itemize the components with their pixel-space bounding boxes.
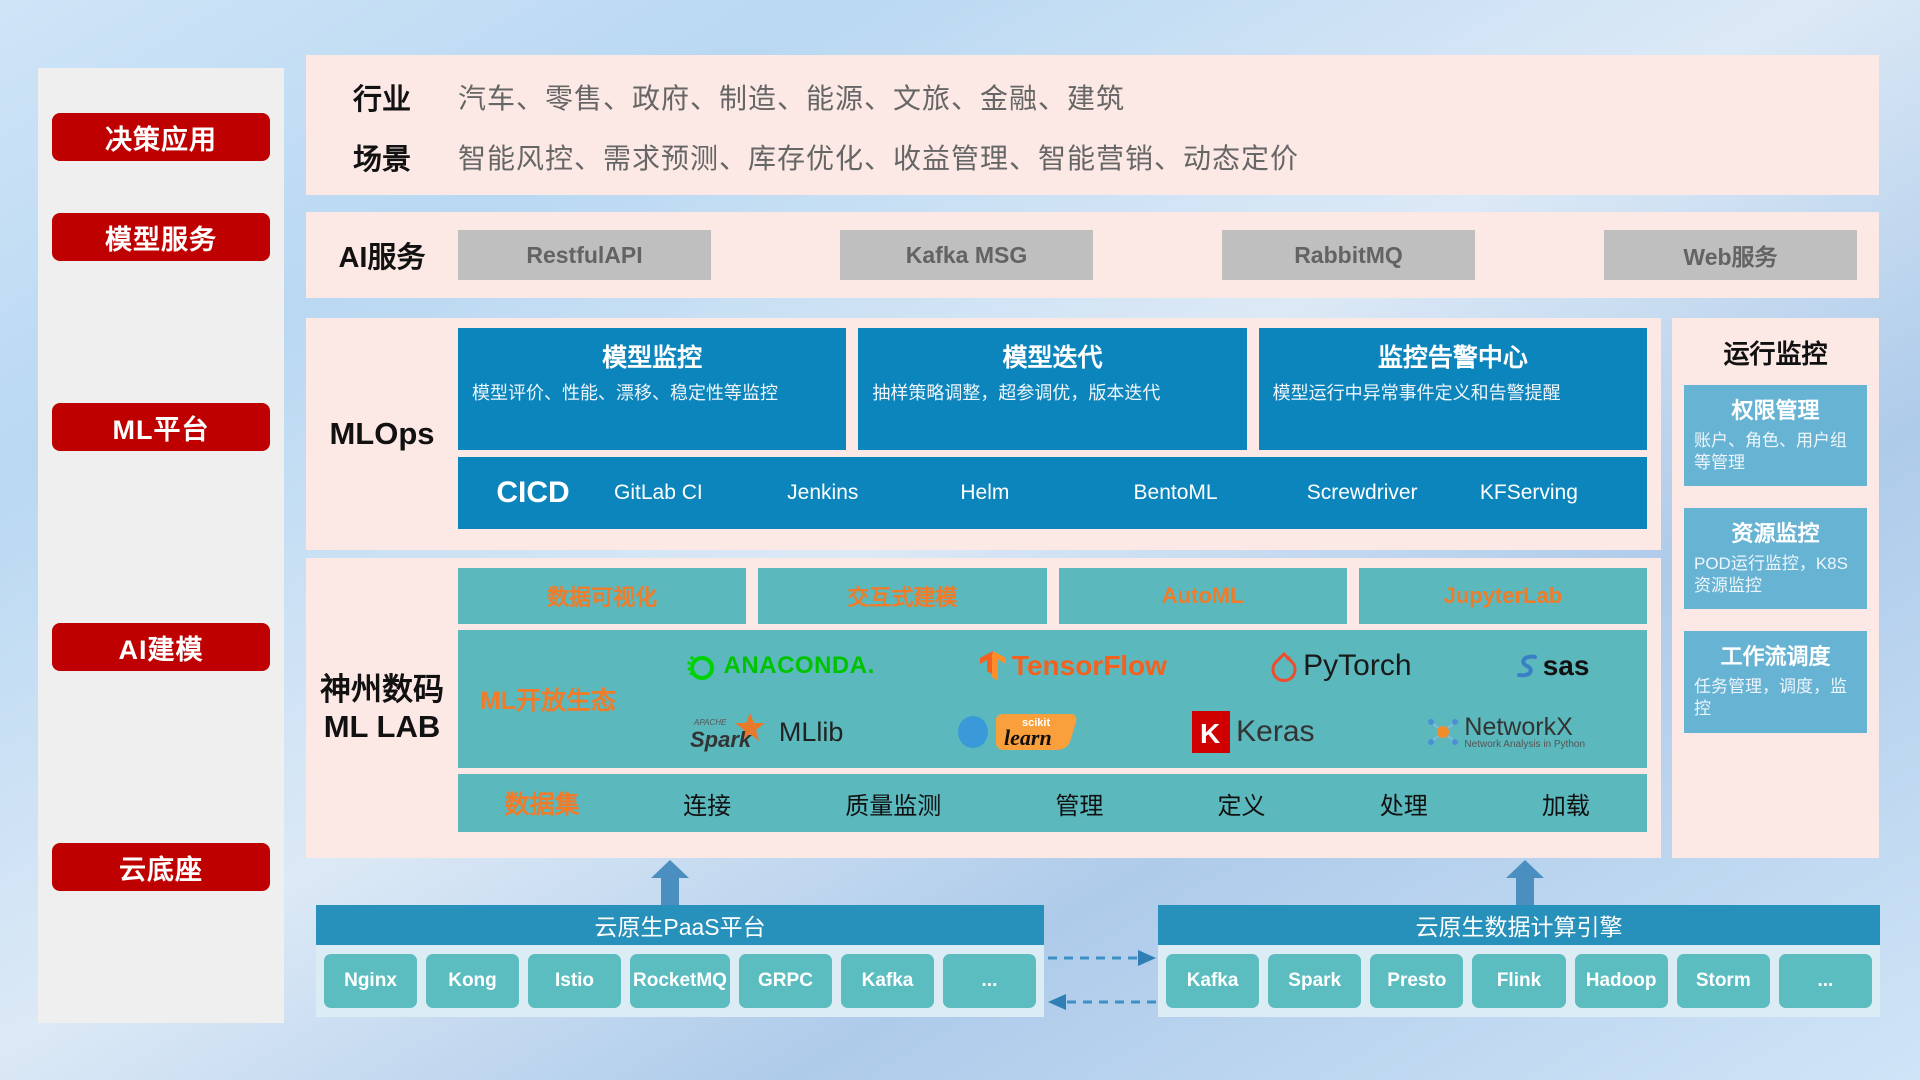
card-title: 监控告警中心	[1273, 338, 1633, 374]
runtime-monitoring-panel: 运行监控 权限管理 账户、角色、用户组等管理 资源监控 POD运行监控，K8S资…	[1672, 318, 1879, 858]
service-chip-restfulapi[interactable]: RestfulAPI	[458, 230, 711, 280]
ml-ecosystem-label: ML开放生态	[464, 681, 632, 717]
cloud-chip-rocketmq[interactable]: RocketMQ	[630, 954, 730, 1008]
monitoring-title: 运行监控	[1684, 334, 1867, 371]
logo-line-1: ANACONDA. TensorFlow	[632, 635, 1641, 697]
industry-values: 汽车、零售、政府、制造、能源、文旅、金融、建筑	[458, 77, 1125, 117]
engine-chip-more[interactable]: ...	[1779, 954, 1872, 1008]
mlops-label: MLOps	[306, 318, 458, 550]
dataset-item-process[interactable]: 处理	[1380, 786, 1428, 821]
scenario-row: 场景 智能风控、需求预测、库存优化、收益管理、智能营销、动态定价	[306, 127, 1879, 187]
keras-icon: K	[1192, 711, 1230, 753]
cloud-paas-title: 云原生PaaS平台	[316, 905, 1044, 945]
ml-ecosystem-row: ML开放生态 ANACONDA.	[458, 630, 1647, 768]
mon-card-desc: POD运行监控，K8S资源监控	[1694, 553, 1857, 597]
mon-card-desc: 账户、角色、用户组等管理	[1694, 430, 1857, 474]
cicd-item-bentoml[interactable]: BentoML	[1128, 480, 1301, 506]
card-title: 模型监控	[472, 338, 832, 374]
mon-card-workflow[interactable]: 工作流调度 任务管理，调度，监控	[1684, 631, 1867, 732]
dataset-item-manage[interactable]: 管理	[1055, 786, 1103, 821]
cloud-paas-group: 云原生PaaS平台 Nginx Kong Istio RocketMQ GRPC…	[316, 905, 1044, 1017]
ml-ecosystem-logos: ANACONDA. TensorFlow	[632, 635, 1641, 763]
keras-logo: K Keras	[1192, 711, 1314, 753]
rail-label: 决策应用	[105, 118, 217, 157]
scikit-learn-icon: scikit learn	[992, 712, 1080, 752]
card-title: 模型迭代	[872, 338, 1232, 374]
ml-lab-label: 神州数码 ML LAB	[306, 558, 458, 858]
cloud-paas-chip-tray: Nginx Kong Istio RocketMQ GRPC Kafka ...	[316, 945, 1044, 1017]
cloud-chip-kong[interactable]: Kong	[426, 954, 519, 1008]
scenario-label: 场景	[306, 136, 458, 178]
spark-mllib-logo: APACHE Spark MLlib	[688, 711, 844, 753]
card-desc: 模型运行中异常事件定义和告警提醒	[1273, 381, 1633, 405]
networkx-wordmark: NetworkX	[1464, 715, 1585, 740]
cloud-chip-grpc[interactable]: GRPC	[739, 954, 832, 1008]
dataset-row: 数据集 连接 质量监测 管理 定义 处理 加载	[458, 774, 1647, 832]
dataset-label: 数据集	[458, 785, 626, 821]
anaconda-wordmark: ANACONDA.	[724, 652, 875, 680]
rail-label: ML平台	[113, 408, 210, 447]
svg-text:APACHE: APACHE	[693, 718, 727, 727]
tensorflow-wordmark: TensorFlow	[1012, 650, 1167, 682]
mlops-card-model-iteration[interactable]: 模型迭代 抽样策略调整，超参调优，版本迭代	[858, 328, 1246, 450]
modeling-tool-group: 数据可视化 交互式建模 AutoML JupyterLab	[458, 568, 1647, 624]
dataset-item-connect[interactable]: 连接	[683, 786, 731, 821]
mon-card-title: 权限管理	[1694, 393, 1857, 425]
up-arrow-icon-right	[1506, 860, 1544, 906]
mlops-card-alert-center[interactable]: 监控告警中心 模型运行中异常事件定义和告警提醒	[1259, 328, 1647, 450]
engine-chip-kafka[interactable]: Kafka	[1166, 954, 1259, 1008]
svg-text:Spark: Spark	[690, 727, 753, 752]
engine-chip-presto[interactable]: Presto	[1370, 954, 1463, 1008]
tool-chip-data-visualization[interactable]: 数据可视化	[458, 568, 746, 624]
rail-label: 模型服务	[105, 218, 217, 257]
sas-icon	[1515, 651, 1541, 681]
cicd-item-gitlab-ci[interactable]: GitLab CI	[608, 480, 781, 506]
pytorch-logo: PyTorch	[1270, 649, 1411, 683]
cicd-item-jenkins[interactable]: Jenkins	[781, 480, 954, 506]
networkx-subtitle: Network Analysis in Python	[1464, 740, 1585, 750]
ai-service-panel: AI服务 RestfulAPI Kafka MSG RabbitMQ Web服务	[306, 212, 1879, 298]
cloud-data-engine-title: 云原生数据计算引擎	[1158, 905, 1880, 945]
bidirectional-dashed-arrows	[1046, 940, 1158, 1020]
mon-card-permission[interactable]: 权限管理 账户、角色、用户组等管理	[1684, 385, 1867, 486]
tensorflow-logo: TensorFlow	[978, 649, 1167, 683]
engine-chip-flink[interactable]: Flink	[1472, 954, 1565, 1008]
networkx-icon	[1426, 715, 1460, 749]
dataset-item-group: 连接 质量监测 管理 定义 处理 加载	[626, 786, 1647, 821]
sas-wordmark: sas	[1543, 650, 1590, 682]
mon-card-title: 资源监控	[1694, 516, 1857, 548]
rail-label: AI建模	[119, 628, 204, 667]
svg-text:learn: learn	[1004, 725, 1052, 750]
cicd-item-screwdriver[interactable]: Screwdriver	[1301, 480, 1474, 506]
service-chip-web[interactable]: Web服务	[1604, 230, 1857, 280]
mon-card-resource[interactable]: 资源监控 POD运行监控，K8S资源监控	[1684, 508, 1867, 609]
sas-logo: sas	[1515, 650, 1590, 682]
ai-modeling-panel: 神州数码 ML LAB 数据可视化 交互式建模 AutoML JupyterLa…	[306, 558, 1661, 858]
card-desc: 抽样策略调整，超参调优，版本迭代	[872, 381, 1232, 405]
tool-chip-automl[interactable]: AutoML	[1059, 568, 1347, 624]
ai-service-chip-group: RestfulAPI Kafka MSG RabbitMQ Web服务	[458, 230, 1879, 280]
rail-item-ml-platform[interactable]: ML平台	[52, 403, 270, 451]
scenario-values: 智能风控、需求预测、库存优化、收益管理、智能营销、动态定价	[458, 137, 1299, 177]
ai-service-label: AI服务	[306, 234, 458, 276]
service-chip-rabbitmq[interactable]: RabbitMQ	[1222, 230, 1475, 280]
tensorflow-icon	[978, 649, 1008, 683]
rail-item-decision-app[interactable]: 决策应用	[52, 113, 270, 161]
scikit-learn-logo: scikit learn	[955, 712, 1080, 752]
networkx-logo: NetworkX Network Analysis in Python	[1426, 715, 1585, 750]
dataset-item-quality-monitor[interactable]: 质量监测	[845, 786, 941, 821]
mlops-body: 模型监控 模型评价、性能、漂移、稳定性等监控 模型迭代 抽样策略调整，超参调优，…	[458, 318, 1661, 550]
mlops-panel: MLOps 模型监控 模型评价、性能、漂移、稳定性等监控 模型迭代 抽样策略调整…	[306, 318, 1661, 550]
rail-item-cloud-base[interactable]: 云底座	[52, 843, 270, 891]
cicd-label: CICD	[458, 476, 608, 510]
mon-card-title: 工作流调度	[1694, 639, 1857, 671]
cicd-item-helm[interactable]: Helm	[954, 480, 1127, 506]
cloud-chip-more[interactable]: ...	[943, 954, 1036, 1008]
cicd-item-kfserving[interactable]: KFServing	[1474, 480, 1647, 506]
svg-text:K: K	[1200, 718, 1220, 749]
cloud-data-engine-group: 云原生数据计算引擎 Kafka Spark Presto Flink Hadoo…	[1158, 905, 1880, 1017]
keras-wordmark: Keras	[1236, 715, 1314, 749]
spark-icon: APACHE Spark	[688, 711, 774, 753]
cloud-chip-nginx[interactable]: Nginx	[324, 954, 417, 1008]
rail-label: 云底座	[119, 848, 203, 887]
engine-chip-hadoop[interactable]: Hadoop	[1575, 954, 1668, 1008]
mllib-wordmark: MLlib	[779, 717, 844, 748]
tool-chip-interactive-modeling[interactable]: 交互式建模	[758, 568, 1046, 624]
service-chip-kafka-msg[interactable]: Kafka MSG	[840, 230, 1093, 280]
anaconda-icon	[684, 649, 718, 683]
engine-chip-storm[interactable]: Storm	[1677, 954, 1770, 1008]
dataset-item-load[interactable]: 加载	[1542, 786, 1590, 821]
left-rail: 决策应用 模型服务 ML平台 AI建模 云底座	[38, 68, 284, 1023]
up-arrow-icon-left	[651, 860, 689, 906]
rail-item-model-service[interactable]: 模型服务	[52, 213, 270, 261]
anaconda-logo: ANACONDA.	[684, 649, 875, 683]
cloud-data-engine-chip-tray: Kafka Spark Presto Flink Hadoop Storm ..…	[1158, 945, 1880, 1017]
pytorch-icon	[1270, 650, 1298, 682]
logo-line-2: APACHE Spark MLlib scikit	[632, 701, 1641, 763]
card-desc: 模型评价、性能、漂移、稳定性等监控	[472, 381, 832, 405]
industry-label: 行业	[306, 76, 458, 118]
cicd-bar: CICD GitLab CI Jenkins Helm BentoML Scre…	[458, 457, 1647, 529]
ml-lab-label-line1: 神州数码	[320, 671, 444, 708]
mon-card-desc: 任务管理，调度，监控	[1694, 676, 1857, 720]
cloud-chip-kafka[interactable]: Kafka	[841, 954, 934, 1008]
modeling-body: 数据可视化 交互式建模 AutoML JupyterLab ML开放生态 ANA…	[458, 558, 1661, 858]
industry-scenario-panel: 行业 汽车、零售、政府、制造、能源、文旅、金融、建筑 场景 智能风控、需求预测、…	[306, 55, 1879, 195]
cloud-chip-istio[interactable]: Istio	[528, 954, 621, 1008]
mlops-card-model-monitoring[interactable]: 模型监控 模型评价、性能、漂移、稳定性等监控	[458, 328, 846, 450]
dataset-item-define[interactable]: 定义	[1218, 786, 1266, 821]
ml-lab-label-line2: ML LAB	[320, 708, 444, 745]
cicd-item-group: GitLab CI Jenkins Helm BentoML Screwdriv…	[608, 480, 1647, 506]
tool-chip-jupyterlab[interactable]: JupyterLab	[1359, 568, 1647, 624]
scikit-blue-icon	[955, 714, 991, 750]
mlops-card-group: 模型监控 模型评价、性能、漂移、稳定性等监控 模型迭代 抽样策略调整，超参调优，…	[458, 328, 1647, 450]
rail-item-ai-modeling[interactable]: AI建模	[52, 623, 270, 671]
engine-chip-spark[interactable]: Spark	[1268, 954, 1361, 1008]
industry-row: 行业 汽车、零售、政府、制造、能源、文旅、金融、建筑	[306, 67, 1879, 127]
pytorch-wordmark: PyTorch	[1303, 649, 1411, 683]
